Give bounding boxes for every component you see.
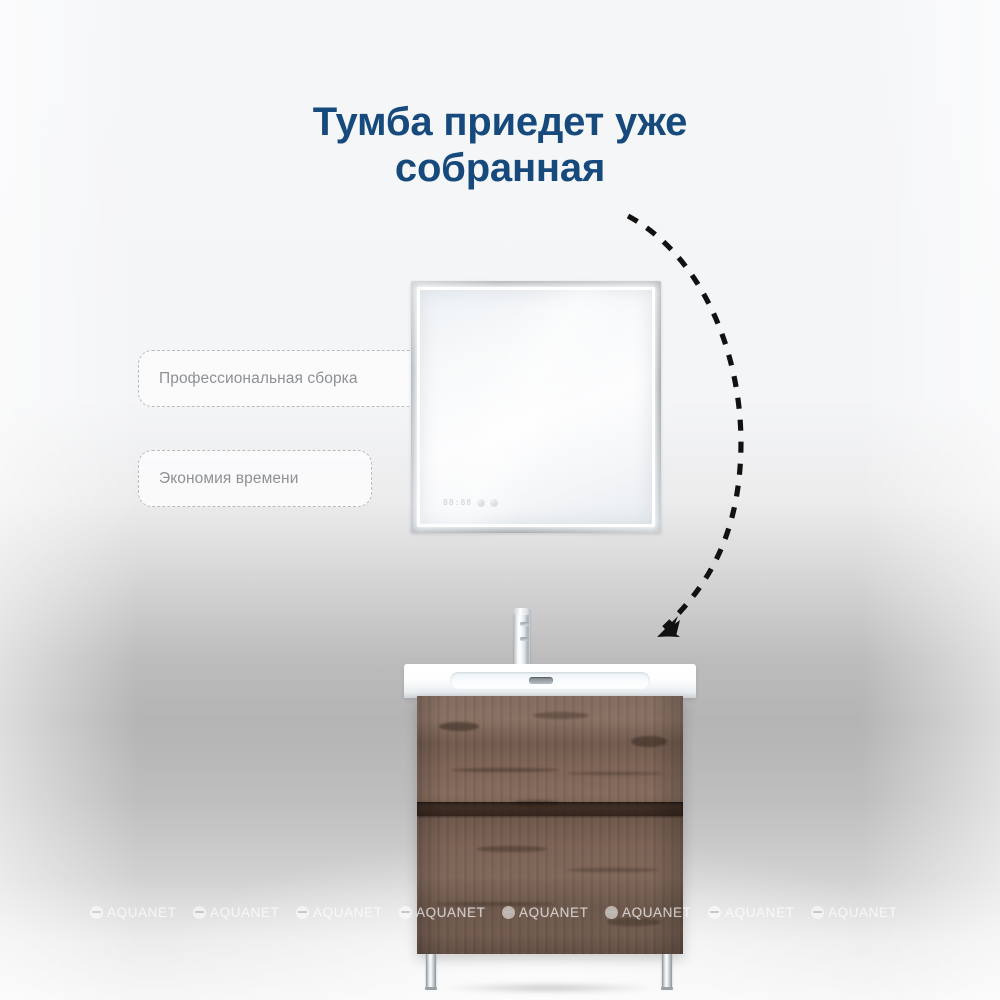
chrome-faucet	[509, 608, 535, 670]
curved-dashed-arrow	[596, 196, 796, 656]
feature-badge-label: Профессиональная сборка	[159, 370, 358, 388]
watermark: AQUANET	[90, 905, 176, 920]
product-promo-image: Тумба приедет уже собранная Профессионал…	[0, 0, 1000, 1000]
aquanet-logo-icon	[811, 906, 824, 919]
faucet-spout	[513, 608, 531, 615]
aquanet-logo-icon	[296, 906, 309, 919]
mirror-touch-button-icon[interactable]	[477, 499, 485, 507]
watermark: AQUANET	[708, 905, 794, 920]
watermark-label: AQUANET	[828, 905, 897, 920]
mirror-clock-display: 88:88	[443, 499, 472, 507]
watermark: AQUANET	[811, 905, 897, 920]
ceramic-washbasin	[404, 664, 696, 698]
cabinet-shading	[417, 696, 683, 954]
vanity-unit	[404, 608, 696, 990]
aquanet-logo-icon	[90, 906, 103, 919]
watermark: AQUANET	[193, 905, 279, 920]
page-title: Тумба приедет уже собранная	[0, 99, 1000, 191]
mirror-touch-button-icon[interactable]	[490, 499, 498, 507]
watermark: AQUANET	[296, 905, 382, 920]
watermark-label: AQUANET	[107, 905, 176, 920]
feature-badge-time-saving: Экономия времени	[138, 450, 372, 507]
cabinet-body	[417, 696, 683, 954]
floor-shadow	[394, 980, 706, 996]
aquanet-logo-icon	[708, 906, 721, 919]
watermark-label: AQUANET	[210, 905, 279, 920]
watermark-label: AQUANET	[725, 905, 794, 920]
feature-badge-label: Экономия времени	[159, 470, 298, 488]
faucet-lever-handle	[520, 622, 529, 626]
aquanet-logo-icon	[193, 906, 206, 919]
faucet-detail	[520, 637, 528, 641]
overflow-slot-icon	[529, 677, 553, 684]
mirror-control-panel: 88:88	[443, 499, 498, 507]
watermark-label: AQUANET	[313, 905, 382, 920]
